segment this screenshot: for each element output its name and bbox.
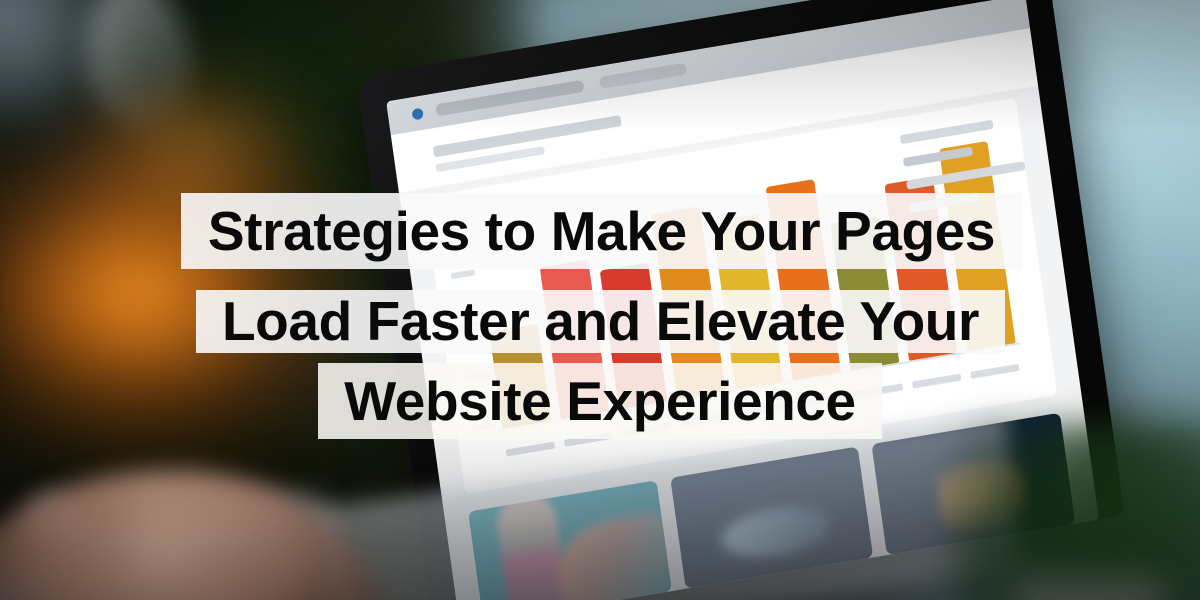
headline-line-2: Load Faster and Elevate Your	[196, 290, 1005, 353]
headline-block: Strategies to Make Your Pages Load Faste…	[0, 0, 1200, 600]
headline-line-1: Strategies to Make Your Pages	[181, 193, 1022, 269]
headline-line-3: Website Experience	[318, 363, 882, 439]
article-hero-banner: Strategies to Make Your Pages Load Faste…	[0, 0, 1200, 600]
